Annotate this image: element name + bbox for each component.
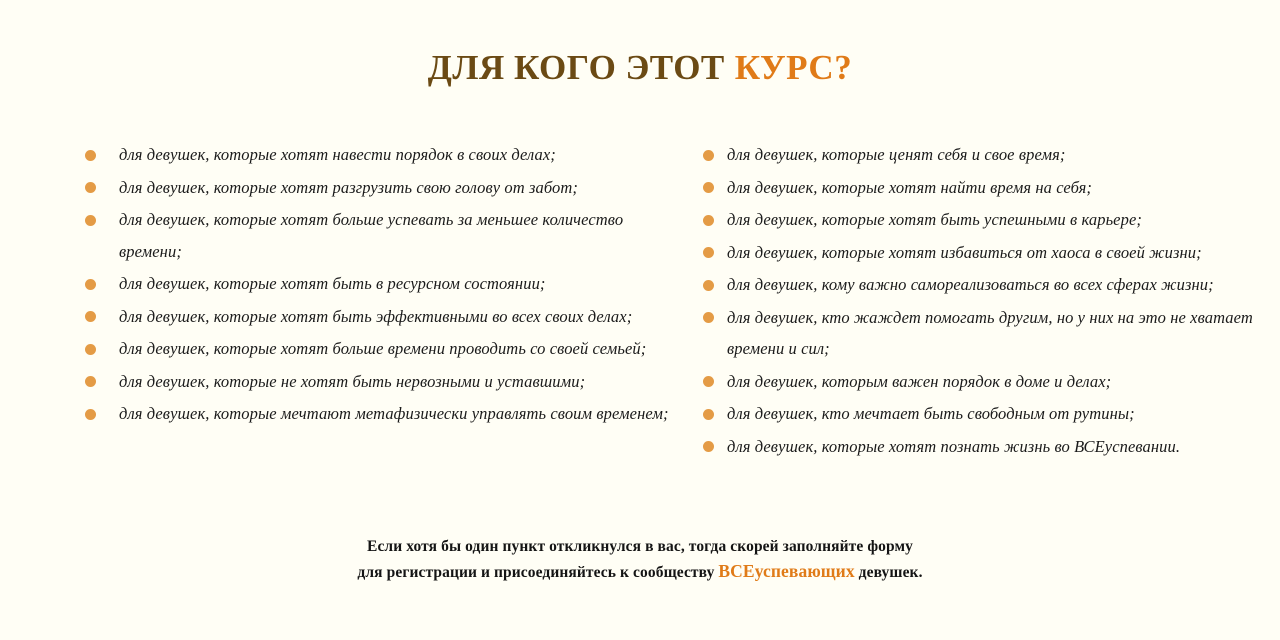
bullet-columns: для девушек, которые хотят навести поряд…: [0, 139, 1280, 479]
list-item: для девушек, которые хотят познать жизнь…: [703, 431, 1263, 463]
list-item: для девушек, которые хотят больше времен…: [84, 333, 684, 365]
list-item: для девушек, кому важно самореализоватьс…: [703, 269, 1263, 301]
footer-callout: Если хотя бы один пункт откликнулся в ва…: [0, 534, 1280, 585]
list-item: для девушек, которые хотят быть в ресурс…: [84, 268, 684, 300]
bullet-column-left: для девушек, которые хотят навести поряд…: [84, 139, 684, 431]
list-item: для девушек, которые хотят избавиться от…: [703, 237, 1263, 269]
footer-line-1: Если хотя бы один пункт откликнулся в ва…: [0, 534, 1280, 559]
footer-line-2: для регистрации и присоединяйтесь к сооб…: [0, 559, 1280, 585]
bullet-list-right: для девушек, которые ценят себя и свое в…: [703, 139, 1263, 462]
footer-accent-word: ВСЕуспевающих: [718, 561, 854, 581]
footer-line-2-before: для регистрации и присоединяйтесь к сооб…: [357, 564, 718, 581]
list-item: для девушек, которые хотят больше успева…: [84, 204, 684, 267]
list-item: для девушек, которые хотят найти время н…: [703, 172, 1263, 204]
list-item: для девушек, которые не хотят быть нерво…: [84, 366, 684, 398]
list-item: для девушек, которые хотят быть эффектив…: [84, 301, 684, 333]
bullet-list-left: для девушек, которые хотят навести поряд…: [84, 139, 684, 430]
list-item: для девушек, кто жаждет помогать другим,…: [703, 302, 1263, 365]
footer-line-2-after: девушек.: [855, 564, 923, 581]
slide-root: ДЛЯ КОГО ЭТОТКУРС? для девушек, которые …: [0, 0, 1280, 640]
page-title: ДЛЯ КОГО ЭТОТКУРС?: [0, 48, 1280, 88]
list-item: для девушек, которые мечтают метафизичес…: [84, 398, 684, 430]
list-item: для девушек, которые хотят разгрузить св…: [84, 172, 684, 204]
list-item: для девушек, которые ценят себя и свое в…: [703, 139, 1263, 171]
page-title-main: ДЛЯ КОГО ЭТОТ: [428, 48, 725, 87]
list-item: для девушек, которым важен порядок в дом…: [703, 366, 1263, 398]
list-item: для девушек, кто мечтает быть свободным …: [703, 398, 1263, 430]
bullet-column-right: для девушек, которые ценят себя и свое в…: [703, 139, 1263, 463]
page-title-accent: КУРС?: [735, 48, 852, 87]
list-item: для девушек, которые хотят быть успешным…: [703, 204, 1263, 236]
list-item: для девушек, которые хотят навести поряд…: [84, 139, 684, 171]
